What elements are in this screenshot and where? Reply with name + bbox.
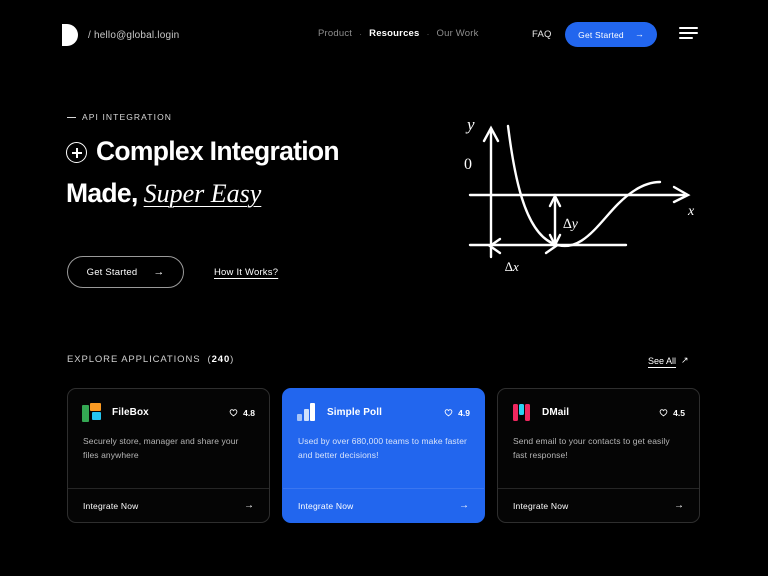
dmail-icon-left-bar	[513, 404, 519, 421]
hero-title-line2-plain: Made,	[66, 180, 138, 207]
hero-headline: Complex Integration Made, Super Easy	[66, 138, 486, 209]
arrow-up-right-icon: ↗	[681, 355, 689, 366]
nav-item-resources[interactable]: Resources	[369, 28, 419, 39]
see-all-link[interactable]: See All ↗	[648, 355, 689, 366]
arrow-right-icon: →	[153, 267, 164, 278]
origin-label: 0	[464, 156, 472, 173]
explore-applications-heading: EXPLORE APPLICATIONS (240)	[67, 354, 234, 365]
arrow-right-icon: →	[635, 30, 644, 39]
hero-headline-line-2: Made, Super Easy	[66, 179, 486, 209]
app-rating: 4.8	[229, 408, 255, 418]
hamburger-line-3	[679, 37, 693, 39]
header-get-started-button[interactable]: Get Started →	[565, 22, 657, 47]
filebox-icon-cyan-block	[92, 412, 102, 421]
how-it-works-link[interactable]: How It Works?	[214, 267, 278, 278]
hamburger-line-2	[679, 32, 698, 34]
see-all-label: See All	[648, 356, 676, 366]
app-name: FileBox	[112, 407, 149, 418]
header-get-started-label: Get Started	[578, 30, 624, 40]
x-axis-label: x	[687, 204, 695, 219]
app-card-header: FileBox 4.8	[68, 389, 269, 422]
integrate-now-label: Integrate Now	[83, 501, 139, 511]
eyebrow-label: API INTEGRATION	[82, 112, 172, 122]
hero-eyebrow: API INTEGRATION	[67, 112, 172, 122]
heart-outline-icon	[444, 408, 453, 417]
app-description: Send email to your contacts to get easil…	[498, 422, 699, 462]
site-header: / hello@global.login Product · Resources…	[0, 0, 768, 68]
app-description: Used by over 680,000 teams to make faste…	[283, 422, 484, 462]
delta-x-label: ∆x	[505, 259, 519, 274]
hero-get-started-label: Get Started	[87, 267, 138, 278]
hero-title-line2-emphasis: Super Easy	[144, 179, 262, 209]
hero-get-started-button[interactable]: Get Started →	[67, 256, 184, 288]
nav-item-our-work[interactable]: Our Work	[437, 28, 479, 39]
explore-applications-label: EXPLORE APPLICATIONS	[67, 354, 200, 365]
plus-circle-icon	[66, 142, 87, 163]
integrate-now-button[interactable]: Integrate Now →	[498, 488, 699, 522]
nav-separator-1: ·	[359, 29, 362, 39]
integrate-now-button[interactable]: Integrate Now →	[68, 488, 269, 522]
logo-text: / hello@global.login	[88, 30, 179, 41]
app-card-header: Simple Poll 4.9	[283, 389, 484, 422]
filebox-icon-orange-block	[90, 403, 102, 411]
app-description: Securely store, manager and share your f…	[68, 422, 269, 462]
app-card-dmail[interactable]: DMail 4.5 Send email to your contacts to…	[497, 388, 700, 523]
hero-title-line1: Complex Integration	[96, 138, 339, 165]
nav-separator-2: ·	[427, 29, 430, 39]
integrate-now-button[interactable]: Integrate Now →	[283, 488, 484, 522]
arrow-right-icon: →	[244, 501, 254, 511]
app-card-filebox[interactable]: FileBox 4.8 Securely store, manager and …	[67, 388, 270, 523]
arrow-right-icon: →	[459, 501, 469, 511]
hero-headline-line-1: Complex Integration	[66, 138, 486, 165]
app-name: Simple Poll	[327, 407, 382, 418]
half-circle-logo-icon	[62, 24, 78, 46]
integrate-now-label: Integrate Now	[513, 501, 569, 511]
eyebrow-dash	[67, 117, 76, 118]
heart-outline-icon	[659, 408, 668, 417]
hero-actions: Get Started → How It Works?	[67, 256, 278, 288]
nav-item-product[interactable]: Product	[318, 28, 352, 39]
app-rating-value: 4.5	[673, 408, 685, 418]
curve	[508, 126, 660, 246]
heart-outline-icon	[229, 408, 238, 417]
dmail-icon-right-bar	[525, 404, 531, 421]
y-axis-label: y	[465, 115, 475, 134]
hamburger-menu-icon[interactable]	[679, 27, 698, 39]
main-navigation: Product · Resources · Our Work	[318, 28, 479, 39]
app-rating-value: 4.8	[243, 408, 255, 418]
applications-count-wrap: (240)	[204, 354, 234, 365]
arrow-right-icon: →	[674, 501, 684, 511]
dmail-app-icon	[512, 403, 531, 422]
dmail-icon-middle-bar	[519, 404, 524, 415]
poll-icon-bar-2	[304, 409, 309, 421]
app-name: DMail	[542, 407, 569, 418]
simple-poll-bar-chart-icon	[297, 403, 316, 422]
delta-y-label: ∆y	[563, 217, 579, 232]
poll-icon-bar-1	[297, 414, 302, 421]
applications-count: 240	[212, 354, 231, 365]
app-card-header: DMail 4.5	[498, 389, 699, 422]
integrate-now-label: Integrate Now	[298, 501, 354, 511]
nav-item-faq[interactable]: FAQ	[532, 29, 552, 40]
app-rating: 4.9	[444, 408, 470, 418]
app-card-simple-poll[interactable]: Simple Poll 4.9 Used by over 680,000 tea…	[282, 388, 485, 523]
filebox-icon-green-bar	[82, 405, 89, 422]
app-rating-value: 4.9	[458, 408, 470, 418]
app-rating: 4.5	[659, 408, 685, 418]
logo[interactable]: / hello@global.login	[62, 24, 179, 46]
application-cards: FileBox 4.8 Securely store, manager and …	[67, 388, 700, 523]
poll-icon-bar-3	[310, 403, 315, 421]
graph-svg: 0 y x ∆y ∆x	[448, 112, 718, 277]
filebox-app-icon	[82, 403, 101, 422]
hamburger-line-1	[679, 27, 698, 29]
hand-drawn-graph-illustration: 0 y x ∆y ∆x	[448, 112, 718, 277]
